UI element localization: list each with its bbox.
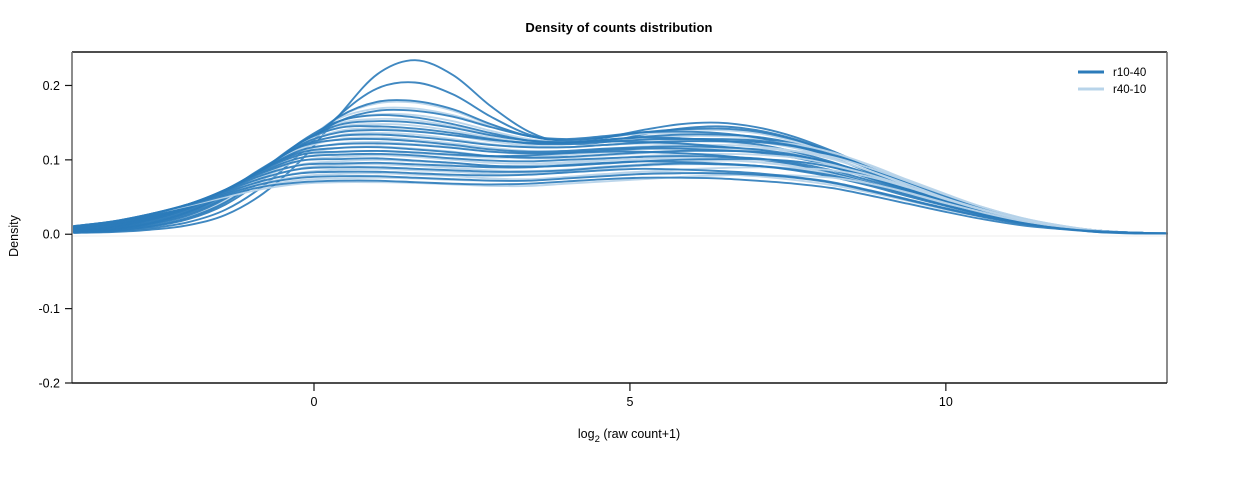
density-curves-layer (74, 60, 1167, 233)
x-axis-title-base: log (578, 427, 595, 441)
x-axis-title-rest: (raw count+1) (600, 427, 680, 441)
chart-canvas: 0.20.10.0-0.1-0.2 0510 Density log2 (raw… (0, 0, 1238, 500)
x-tick-label: 0 (311, 395, 318, 409)
y-axis-title: Density (7, 214, 21, 256)
density-plot-figure: Density of counts distribution 0.20.10.0… (0, 0, 1238, 500)
y-tick-label: 0.2 (43, 79, 60, 93)
x-axis: 0510 (311, 383, 953, 409)
x-tick-label: 5 (626, 395, 633, 409)
legend-label-r40-10[interactable]: r40-10 (1113, 84, 1146, 96)
x-axis-title: log2 (raw count+1) (578, 427, 680, 445)
y-axis: 0.20.10.0-0.1-0.2 (38, 79, 72, 391)
legend-label-r10-40[interactable]: r10-40 (1113, 67, 1146, 79)
y-tick-label: -0.1 (38, 302, 60, 316)
legend[interactable]: r10-40r40-10 (1078, 67, 1146, 96)
y-tick-label: -0.2 (38, 377, 60, 391)
y-tick-label: 0.0 (43, 228, 60, 242)
x-tick-label: 10 (939, 395, 953, 409)
y-tick-label: 0.1 (43, 153, 60, 167)
